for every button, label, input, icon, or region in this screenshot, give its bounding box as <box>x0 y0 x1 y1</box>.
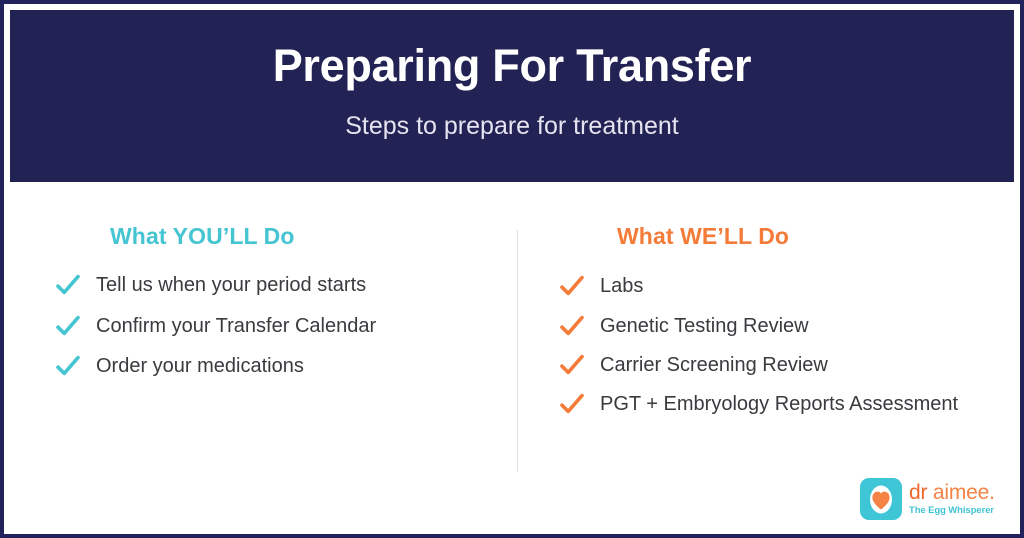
page-title: Preparing For Transfer <box>273 42 752 89</box>
page-subtitle: Steps to prepare for treatment <box>345 113 679 141</box>
logo-wordmark: dr aimee. The Egg Whisperer <box>909 482 995 516</box>
header-banner: Preparing For Transfer Steps to prepare … <box>10 10 1014 182</box>
list-item: PGT + Embryology Reports Assessment <box>558 389 978 419</box>
column-divider <box>517 230 518 472</box>
logo-tagline: The Egg Whisperer <box>909 506 995 516</box>
list-item-label: Tell us when your period starts <box>96 270 366 300</box>
check-icon <box>558 272 586 300</box>
list-item-label: Labs <box>600 271 643 301</box>
list-item: Genetic Testing Review <box>558 311 978 341</box>
column-you-will-do: What YOU’LL Do Tell us when your period … <box>54 182 494 391</box>
list-item-label: Carrier Screening Review <box>600 350 828 380</box>
list-item: Confirm your Transfer Calendar <box>54 311 494 341</box>
list-item: Carrier Screening Review <box>558 350 978 380</box>
list-item: Order your medications <box>54 351 494 381</box>
column-we-will-do: What WE’LL Do Labs G <box>558 182 978 429</box>
list-item: Tell us when your period starts <box>54 270 494 300</box>
check-icon <box>558 312 586 340</box>
check-icon <box>54 312 82 340</box>
column-heading-you: What YOU’LL Do <box>54 182 494 249</box>
checklist-you: Tell us when your period starts Confirm … <box>54 270 494 381</box>
list-item-label: Confirm your Transfer Calendar <box>96 311 376 341</box>
check-icon <box>558 390 586 418</box>
list-item-label: Genetic Testing Review <box>600 311 809 341</box>
logo-name-prefix: dr <box>909 481 927 504</box>
logo-name: dr aimee. <box>909 482 995 503</box>
check-icon <box>54 352 82 380</box>
list-item-label: Order your medications <box>96 351 304 381</box>
checklist-we: Labs Genetic Testing Review <box>558 271 978 420</box>
brand-logo[interactable]: dr aimee. The Egg Whisperer <box>860 474 1000 524</box>
logo-name-rest: aimee. <box>927 481 994 504</box>
column-heading-we: What WE’LL Do <box>558 182 978 249</box>
egg-heart-icon <box>860 478 902 520</box>
list-item-label: PGT + Embryology Reports Assessment <box>600 389 958 419</box>
check-icon <box>54 271 82 299</box>
check-icon <box>558 351 586 379</box>
slide-canvas: Preparing For Transfer Steps to prepare … <box>0 0 1024 538</box>
list-item: Labs <box>558 271 978 301</box>
